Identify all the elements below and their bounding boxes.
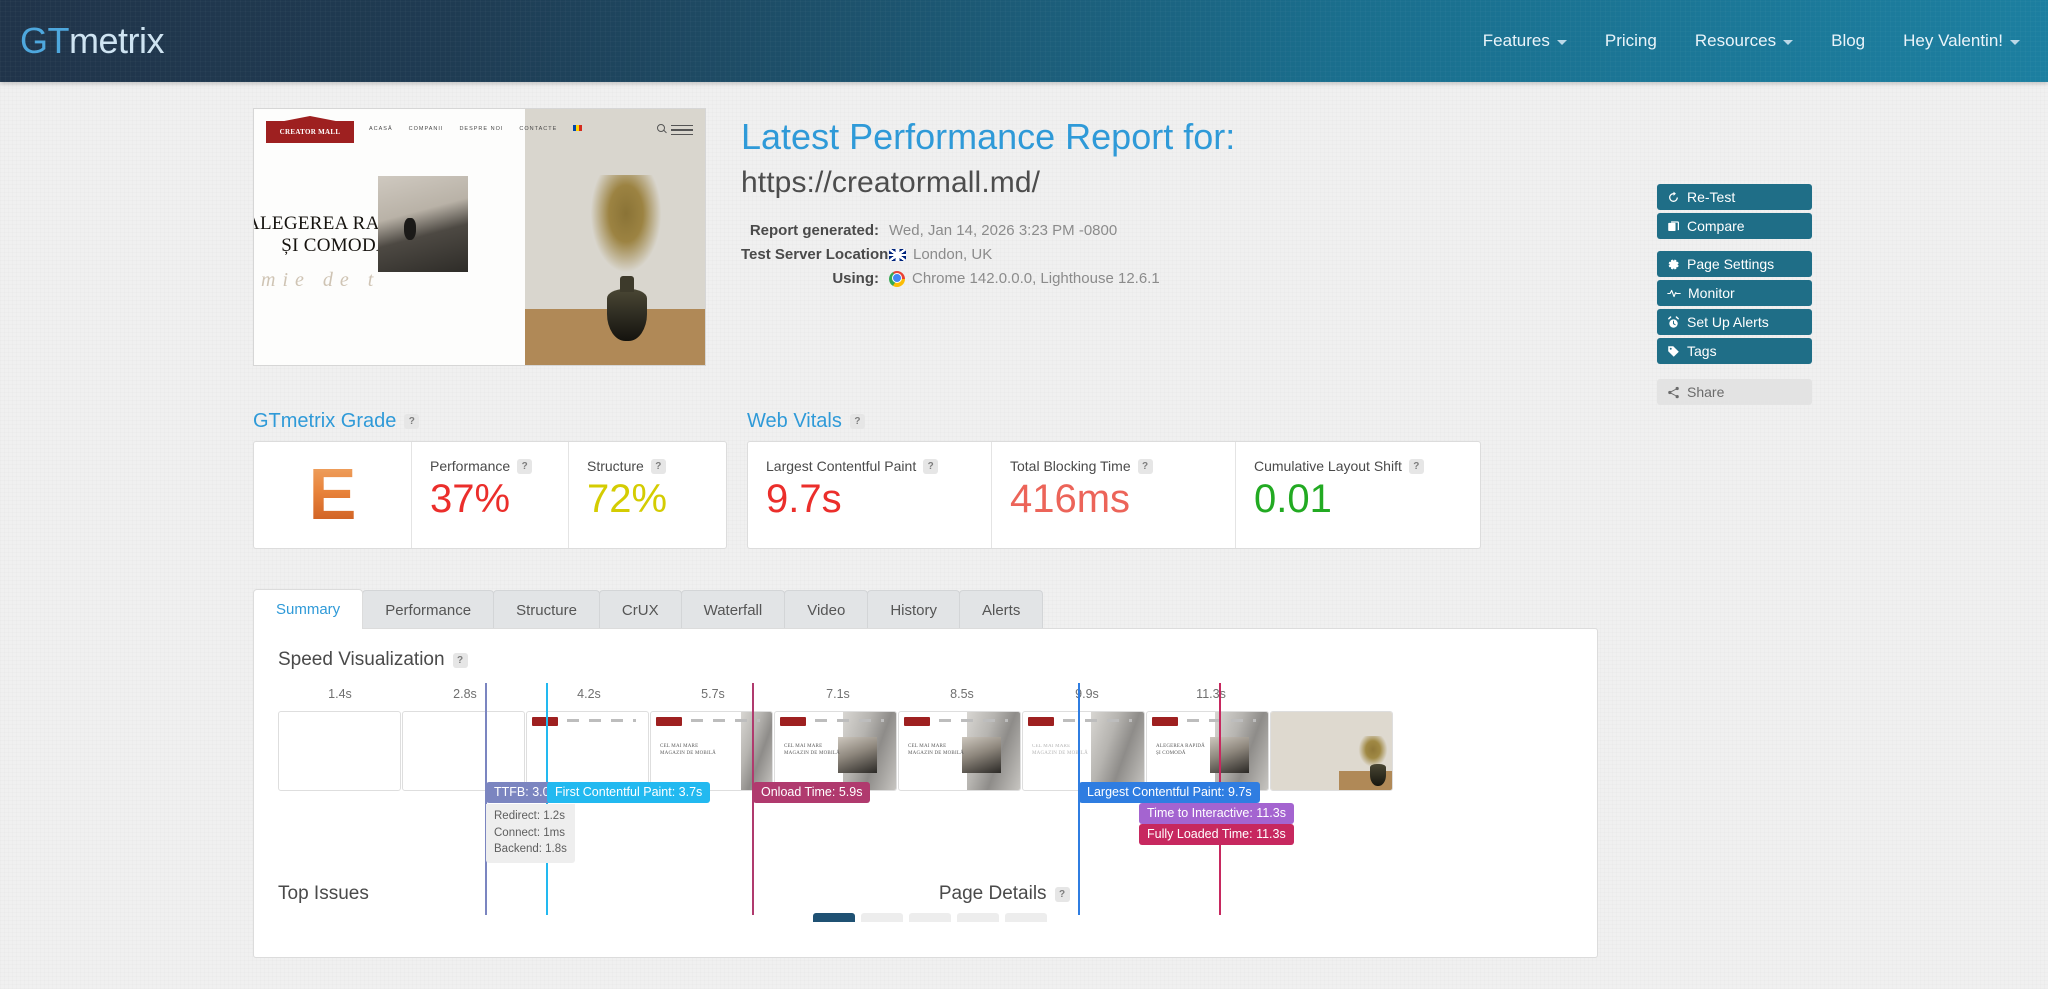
grade-cell: E <box>254 442 412 548</box>
tab-video[interactable]: Video <box>784 590 868 629</box>
tab-alerts-label: Alerts <box>982 602 1020 619</box>
tab-crux-label: CrUX <box>622 602 659 619</box>
tbt-label: Total Blocking Time <box>1010 458 1131 474</box>
meta-value-location: London, UK <box>889 246 992 263</box>
nav-label-resources: Resources <box>1695 31 1776 51</box>
ttfb-redirect: Redirect: 1.2s <box>494 808 567 825</box>
tab-summary[interactable]: Summary <box>253 589 363 629</box>
meta-label-using: Using: <box>741 270 889 287</box>
monitor-button[interactable]: Monitor <box>1657 280 1812 306</box>
screenshot-nav-despre: DESPRE NOI <box>459 126 503 132</box>
tab-bar: Summary Performance Structure CrUX Water… <box>253 589 2048 629</box>
gtmetrix-grade-card: E Performance ? 37% Structure ? 72% <box>253 441 727 549</box>
help-icon[interactable]: ? <box>923 459 938 474</box>
filmstrip: CEL MAI MAREMAGAZIN DE MOBILĂ CEL MAI MA… <box>278 711 1573 791</box>
performance-cell: Performance ? 37% <box>412 442 569 548</box>
help-icon[interactable]: ? <box>453 653 468 668</box>
tick-label-6: 8.5s <box>950 687 974 701</box>
top-issues-title: Top Issues <box>278 883 369 905</box>
chevron-down-icon <box>1783 40 1793 45</box>
ttfb-backend: Backend: 1.8s <box>494 841 567 858</box>
screenshot-nav: ACASĂ COMPANII DESPRE NOI CONTACTE <box>369 126 645 132</box>
meta-row-generated: Report generated: Wed, Jan 14, 2026 3:23… <box>741 222 1235 239</box>
top-issues-heading: Top Issues <box>278 883 369 905</box>
meta-label-location: Test Server Location: <box>741 246 889 263</box>
logo-metrix-text: metrix <box>69 20 164 61</box>
nav-item-account[interactable]: Hey Valentin! <box>1903 31 2020 51</box>
help-icon[interactable]: ? <box>850 414 865 429</box>
pagination-button[interactable] <box>813 913 855 922</box>
help-icon[interactable]: ? <box>517 459 532 474</box>
screenshot-vase <box>607 289 647 341</box>
tab-crux[interactable]: CrUX <box>599 590 682 629</box>
screenshot-nav-acasa: ACASĂ <box>369 126 393 132</box>
tbt-value: 416ms <box>1010 478 1215 520</box>
structure-caption: Structure ? <box>587 458 706 474</box>
moldova-flag-icon <box>573 125 582 131</box>
tick-label-5: 7.1s <box>826 687 850 701</box>
alarm-icon <box>1667 316 1680 329</box>
pagination-button[interactable] <box>1005 913 1047 922</box>
meta-value-generated: Wed, Jan 14, 2026 3:23 PM -0800 <box>889 222 1117 239</box>
performance-value: 37% <box>430 478 548 520</box>
re-test-button[interactable]: Re-Test <box>1657 184 1812 210</box>
web-vitals-card: Largest Contentful Paint ? 9.7s Total Bl… <box>747 441 1481 549</box>
web-vitals-title: Web Vitals <box>747 410 842 433</box>
cls-label: Cumulative Layout Shift <box>1254 458 1402 474</box>
report-url[interactable]: https://creatormall.md/ <box>741 166 1235 200</box>
issues-pagination <box>813 913 1047 922</box>
tbt-caption: Total Blocking Time ? <box>1010 458 1215 474</box>
nav-item-resources[interactable]: Resources <box>1695 31 1793 51</box>
tick-label-8: 11.3s <box>1196 687 1226 701</box>
screenshot-script-text: omie de t <box>253 269 380 292</box>
scores-row: GTmetrix Grade ? E Performance ? 37% Str… <box>0 410 2048 549</box>
filmstrip-frame[interactable] <box>1270 711 1393 791</box>
screenshot-inset-photo <box>378 176 468 272</box>
filmstrip-frame[interactable] <box>526 711 649 791</box>
speed-visualization-heading: Speed Visualization ? <box>278 649 1573 671</box>
compare-icon <box>1667 220 1680 233</box>
nav-label-account: Hey Valentin! <box>1903 31 2003 51</box>
tab-structure[interactable]: Structure <box>493 590 600 629</box>
pulse-icon <box>1667 287 1681 300</box>
meta-row-using: Using: Chrome 142.0.0.0, Lighthouse 12.6… <box>741 270 1235 287</box>
action-buttons: Re-Test Compare Page Settings Monitor Se… <box>1657 184 1812 408</box>
pagination-button[interactable] <box>861 913 903 922</box>
nav-item-blog[interactable]: Blog <box>1831 31 1865 51</box>
compare-label: Compare <box>1687 218 1745 234</box>
page-content: CREATOR MALL ACASĂ COMPANII DESPRE NOI C… <box>0 82 2048 958</box>
uk-flag-icon <box>889 249 906 261</box>
chevron-down-icon <box>1557 40 1567 45</box>
help-icon[interactable]: ? <box>404 414 419 429</box>
web-vitals-heading: Web Vitals ? <box>747 410 1481 433</box>
speed-visualization: 1.4s 2.8s 4.2s 5.7s 7.1s 8.5s 9.9s 11.3s <box>278 687 1573 857</box>
tags-button[interactable]: Tags <box>1657 338 1812 364</box>
grade-letter: E <box>308 459 356 531</box>
cls-cell: Cumulative Layout Shift ? 0.01 <box>1236 442 1480 548</box>
tick-label-4: 5.7s <box>701 687 725 701</box>
help-icon[interactable]: ? <box>1138 459 1153 474</box>
nav-label-pricing: Pricing <box>1605 31 1657 51</box>
tab-structure-label: Structure <box>516 602 577 619</box>
page-title: Latest Performance Report for: <box>741 114 1235 159</box>
report-tabs-panel: Summary Performance Structure CrUX Water… <box>0 589 2048 958</box>
gtmetrix-grade-title: GTmetrix Grade <box>253 410 396 433</box>
set-up-alerts-button[interactable]: Set Up Alerts <box>1657 309 1812 335</box>
site-header: GTmetrix Features Pricing Resources Blog… <box>0 0 2048 82</box>
structure-value: 72% <box>587 478 706 520</box>
tab-waterfall[interactable]: Waterfall <box>681 590 786 629</box>
performance-caption: Performance ? <box>430 458 548 474</box>
tab-waterfall-label: Waterfall <box>704 602 763 619</box>
nav-item-features[interactable]: Features <box>1483 31 1567 51</box>
filmstrip-frame[interactable]: CEL MAI MAREMAGAZIN DE MOBILĂ <box>898 711 1021 791</box>
set-up-alerts-label: Set Up Alerts <box>1687 314 1769 330</box>
ttfb-breakdown: Redirect: 1.2s Connect: 1ms Backend: 1.8… <box>486 804 575 863</box>
pagination-button[interactable] <box>957 913 999 922</box>
speed-visualization-title: Speed Visualization <box>278 649 445 671</box>
help-icon[interactable]: ? <box>1055 887 1070 902</box>
tab-performance-label: Performance <box>385 602 471 619</box>
ttfb-connect: Connect: 1ms <box>494 825 567 842</box>
marker-onload-time[interactable]: Onload Time: 5.9s <box>753 782 870 803</box>
structure-label: Structure <box>587 458 644 474</box>
report-heading-block: Latest Performance Report for: https://c… <box>741 108 1235 294</box>
page-settings-button[interactable]: Page Settings <box>1657 251 1812 277</box>
page-details-heading: Page Details ? <box>939 883 1070 905</box>
meta-value-using: Chrome 142.0.0.0, Lighthouse 12.6.1 <box>889 270 1160 287</box>
screenshot-search-icon <box>657 124 665 132</box>
gear-icon <box>1667 258 1680 271</box>
lcp-label: Largest Contentful Paint <box>766 458 916 474</box>
performance-label: Performance <box>430 458 510 474</box>
pagination-button[interactable] <box>909 913 951 922</box>
marker-first-contentful-paint[interactable]: First Contentful Paint: 3.7s <box>547 782 710 803</box>
meta-text-location: London, UK <box>913 246 992 263</box>
cls-caption: Cumulative Layout Shift ? <box>1254 458 1460 474</box>
screenshot-nav-contacte: CONTACTE <box>519 126 557 132</box>
logo-gt-text: GT <box>20 20 69 61</box>
refresh-icon <box>1667 191 1680 204</box>
tick-label-3: 4.2s <box>577 687 601 701</box>
marker-time-to-interactive[interactable]: Time to Interactive: 11.3s <box>1139 803 1294 824</box>
tick-label-1: 1.4s <box>328 687 352 701</box>
lcp-caption: Largest Contentful Paint ? <box>766 458 971 474</box>
cls-value: 0.01 <box>1254 478 1460 520</box>
tab-history[interactable]: History <box>867 590 960 629</box>
meta-text-using: Chrome 142.0.0.0, Lighthouse 12.6.1 <box>912 270 1160 287</box>
nav-label-features: Features <box>1483 31 1550 51</box>
nav-label-blog: Blog <box>1831 31 1865 51</box>
gtmetrix-logo[interactable]: GTmetrix <box>20 20 164 62</box>
summary-panel: Speed Visualization ? 1.4s 2.8s 4.2s 5.7… <box>253 628 1598 958</box>
re-test-label: Re-Test <box>1687 189 1735 205</box>
report-meta: Report generated: Wed, Jan 14, 2026 3:23… <box>741 222 1235 287</box>
tags-label: Tags <box>1687 343 1717 359</box>
filmstrip-frame[interactable] <box>402 711 525 791</box>
main-navigation: Features Pricing Resources Blog Hey Vale… <box>1483 31 2020 51</box>
gtmetrix-grade-heading: GTmetrix Grade ? <box>253 410 727 433</box>
filmstrip-frame[interactable]: CEL MAI MAREMAGAZIN DE MOBILĂ <box>650 711 773 791</box>
screenshot-hamburger-icon <box>671 125 693 138</box>
meta-row-location: Test Server Location: London, UK <box>741 246 1235 263</box>
page-details-title: Page Details <box>939 883 1047 905</box>
lcp-value: 9.7s <box>766 478 971 520</box>
tab-summary-label: Summary <box>276 601 340 618</box>
page-screenshot-thumbnail[interactable]: CREATOR MALL ACASĂ COMPANII DESPRE NOI C… <box>253 108 706 366</box>
screenshot-leaf <box>583 175 669 285</box>
tbt-cell: Total Blocking Time ? 416ms <box>992 442 1236 548</box>
web-vitals-section: Web Vitals ? Largest Contentful Paint ? … <box>747 410 1481 549</box>
lcp-cell: Largest Contentful Paint ? 9.7s <box>748 442 992 548</box>
gtmetrix-grade-section: GTmetrix Grade ? E Performance ? 37% Str… <box>253 410 727 549</box>
screenshot-nav-companii: COMPANII <box>409 126 444 132</box>
page-settings-label: Page Settings <box>1687 256 1774 272</box>
filmstrip-frame[interactable]: CEL MAI MAREMAGAZIN DE MOBILĂ <box>1022 711 1145 791</box>
timeline-ticks: 1.4s 2.8s 4.2s 5.7s 7.1s 8.5s 9.9s 11.3s <box>278 687 1573 705</box>
filmstrip-frame[interactable]: CEL MAI MAREMAGAZIN DE MOBILĂ <box>774 711 897 791</box>
bottom-sections: Top Issues Page Details ? <box>278 883 1573 905</box>
tab-history-label: History <box>890 602 937 619</box>
screenshot-brand-logo: CREATOR MALL <box>266 121 354 143</box>
chevron-down-icon <box>2010 40 2020 45</box>
share-button[interactable]: Share <box>1657 379 1812 405</box>
nav-item-pricing[interactable]: Pricing <box>1605 31 1657 51</box>
tick-label-2: 2.8s <box>453 687 477 701</box>
marker-fully-loaded-time[interactable]: Fully Loaded Time: 11.3s <box>1139 824 1294 845</box>
monitor-label: Monitor <box>1688 285 1735 301</box>
tab-performance[interactable]: Performance <box>362 590 494 629</box>
help-icon[interactable]: ? <box>651 459 666 474</box>
tab-video-label: Video <box>807 602 845 619</box>
share-icon <box>1667 386 1680 399</box>
marker-largest-contentful-paint[interactable]: Largest Contentful Paint: 9.7s <box>1079 782 1260 803</box>
tag-icon <box>1667 345 1680 358</box>
website-screenshot: CREATOR MALL ACASĂ COMPANII DESPRE NOI C… <box>254 109 705 365</box>
meta-text-generated: Wed, Jan 14, 2026 3:23 PM -0800 <box>889 222 1117 239</box>
share-label: Share <box>1687 384 1724 400</box>
filmstrip-frame[interactable] <box>278 711 401 791</box>
meta-label-generated: Report generated: <box>741 222 889 239</box>
chrome-icon <box>889 271 905 287</box>
help-icon[interactable]: ? <box>1409 459 1424 474</box>
filmstrip-frame[interactable]: ALEGEREA RAPIDĂȘI COMODĂ <box>1146 711 1269 791</box>
compare-button[interactable]: Compare <box>1657 213 1812 239</box>
structure-cell: Structure ? 72% <box>569 442 726 548</box>
tab-alerts[interactable]: Alerts <box>959 590 1043 629</box>
